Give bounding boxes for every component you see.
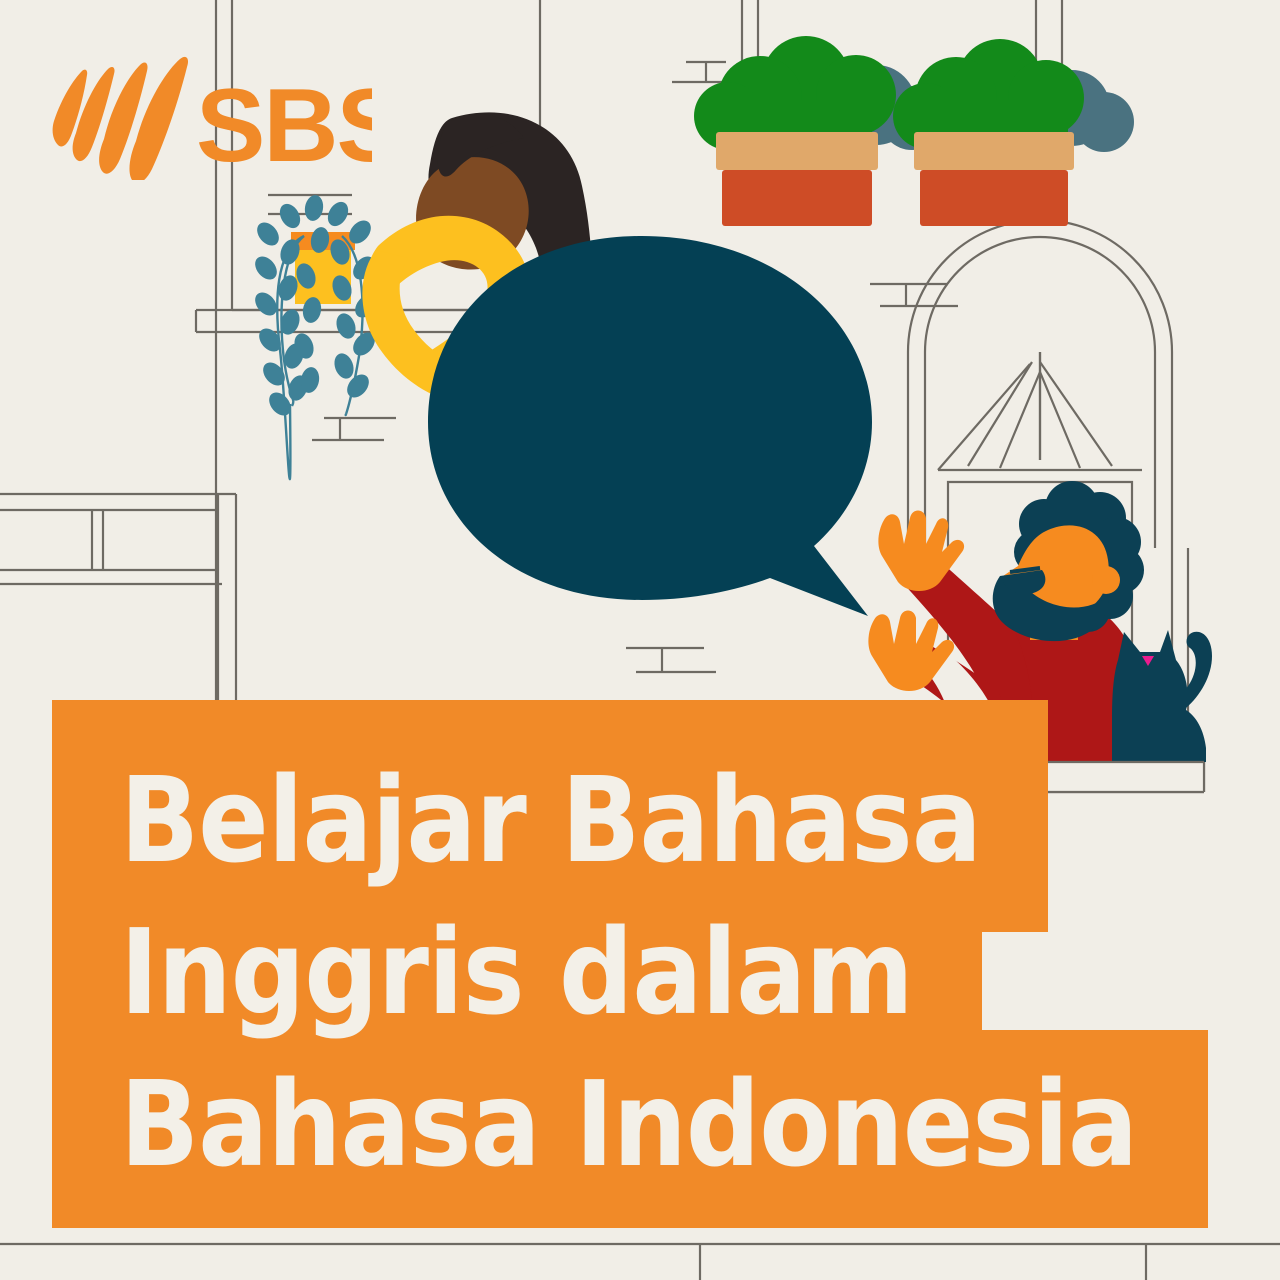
poster-canvas: SBS Belajar Bahasa Inggris dalam Bahasa …: [0, 0, 1280, 1280]
man-ear: [1092, 566, 1120, 594]
sbs-wordmark: SBS: [196, 68, 372, 180]
title-text: Belajar Bahasa Inggris dalam Bahasa Indo…: [52, 700, 1212, 1228]
title-line-1: Belajar Bahasa: [120, 744, 1081, 896]
sbs-flame-mark: [53, 57, 188, 180]
title-line-2: Inggris dalam: [120, 896, 1081, 1048]
title-block: Belajar Bahasa Inggris dalam Bahasa Indo…: [52, 700, 1212, 1228]
sbs-logo[interactable]: SBS: [52, 55, 372, 180]
title-line-3: Bahasa Indonesia: [120, 1048, 1081, 1200]
